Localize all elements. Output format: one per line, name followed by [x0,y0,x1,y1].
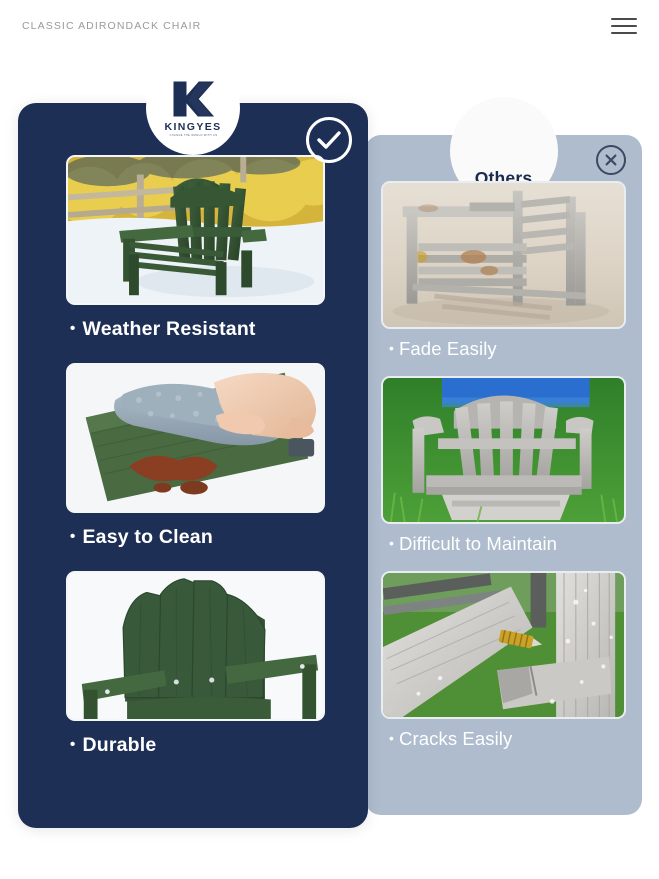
list-item: •Durable [66,571,322,763]
x-circle-icon [596,145,626,175]
bullet-icon: • [70,736,75,753]
bullet-icon: • [389,535,394,551]
hand-wiping-chair-with-towel-photo [66,363,325,513]
cracked-gray-board-with-loose-brass-screw-photo [381,571,626,719]
list-item: •Difficult to Maintain [381,376,626,559]
kingyes-feature-list: •Weather Resistant [18,155,368,779]
others-drawback-list: •Fade Easily [365,181,642,766]
gray-weathered-chair-on-grass-near-water-photo [381,376,626,524]
page-title: CLASSIC ADIRONDACK CHAIR [22,20,201,32]
check-circle-icon [306,117,352,163]
bullet-icon: • [70,528,75,545]
bullet-icon: • [389,730,394,746]
closeup-green-chair-fan-back-photo [66,571,325,721]
list-item: •Weather Resistant [66,155,322,347]
kingyes-wordmark: KINGYES [164,121,221,133]
faded-gray-weathered-wooden-chair-on-sand-photo [381,181,626,329]
kingyes-k-logo-icon [170,79,216,119]
hamburger-menu-icon[interactable] [611,18,637,34]
list-item-label: •Easy to Clean [66,513,322,555]
comparison-infographic: CLASSIC ADIRONDACK CHAIR Others [0,0,659,879]
list-item-label: •Difficult to Maintain [381,524,626,559]
list-item: •Cracks Easily [381,571,626,754]
page-header: CLASSIC ADIRONDACK CHAIR [0,0,659,52]
bullet-icon: • [70,320,75,337]
list-item: •Fade Easily [381,181,626,364]
list-item-label: •Weather Resistant [66,305,322,347]
others-comparison-card: Others [365,135,642,815]
list-item-label: •Cracks Easily [381,719,626,754]
kingyes-logo: KINGYES CHANGE THE WORLD WITH US [146,61,240,155]
list-item: •Easy to Clean [66,363,322,555]
bullet-icon: • [389,340,394,356]
list-item-label: •Fade Easily [381,329,626,364]
kingyes-brand-card: KINGYES CHANGE THE WORLD WITH US [18,103,368,828]
kingyes-tagline: CHANGE THE WORLD WITH US [169,134,217,137]
list-item-label: •Durable [66,721,322,763]
green-adirondack-chair-in-snow-photo [66,155,325,305]
